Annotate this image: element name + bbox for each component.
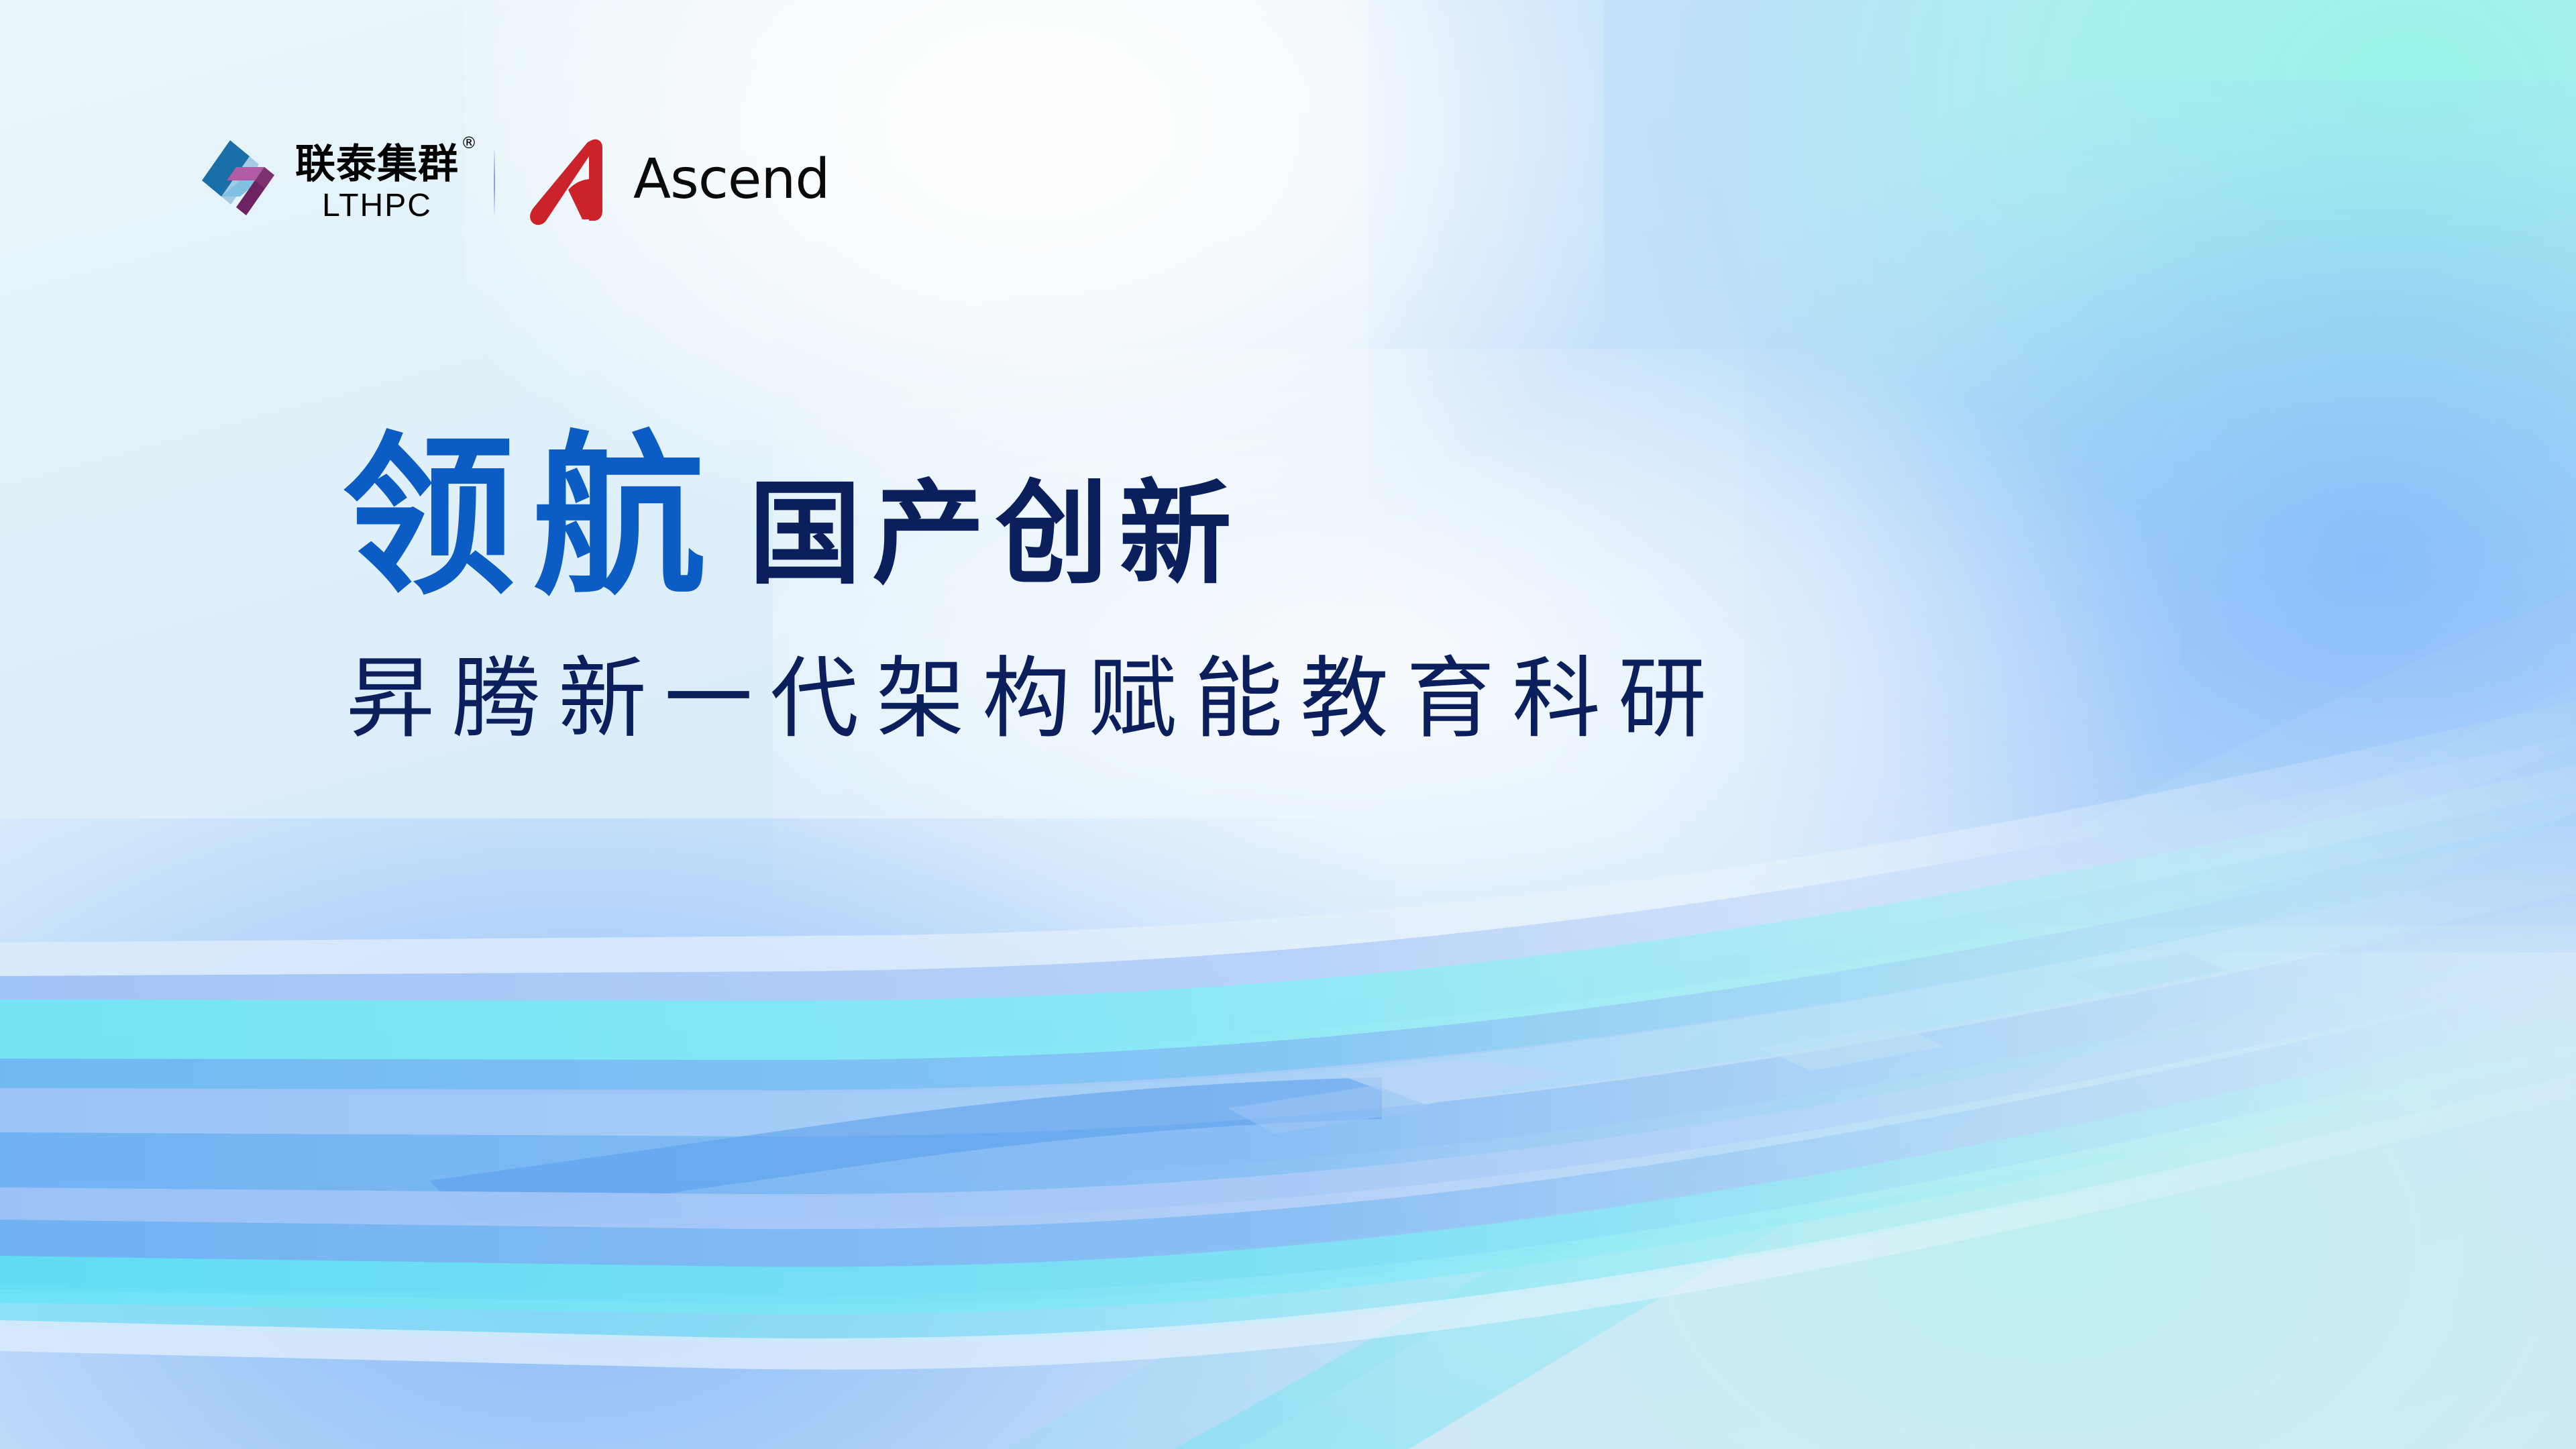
subheadline: 昇腾新一代架构赋能教育科研 [346, 650, 2288, 749]
lthpc-wordmark: 联泰集群 ® LTHPC [295, 142, 459, 222]
lthpc-logo-lockup[interactable]: 联泰集群 ® LTHPC [199, 139, 459, 225]
registered-trademark-icon: ® [461, 135, 478, 151]
lthpc-chinese-name: 联泰集群 ® [295, 144, 459, 184]
logo-divider [494, 150, 495, 214]
headline-block: 领航 国产创新 昇腾新一代架构赋能教育科研 [342, 424, 2288, 749]
poster-canvas: 联泰集群 ® LTHPC Ascend 领航 国产创新 昇腾新一代架构赋能教育科… [0, 0, 2576, 1449]
ascend-a-mark-icon [530, 136, 619, 227]
lthpc-s-mark-icon [199, 139, 278, 225]
headline-lead: 领航 [342, 424, 723, 611]
ascend-wordmark: Ascend [633, 152, 829, 211]
logo-bar: 联泰集群 ® LTHPC Ascend [199, 131, 829, 232]
lthpc-chinese-text: 联泰集群 [295, 141, 459, 188]
lthpc-latin-name: LTHPC [322, 190, 432, 222]
ascend-logo-lockup[interactable]: Ascend [530, 136, 829, 227]
headline-rest: 国产创新 [749, 478, 1242, 590]
headline-row: 领航 国产创新 [342, 424, 2288, 611]
